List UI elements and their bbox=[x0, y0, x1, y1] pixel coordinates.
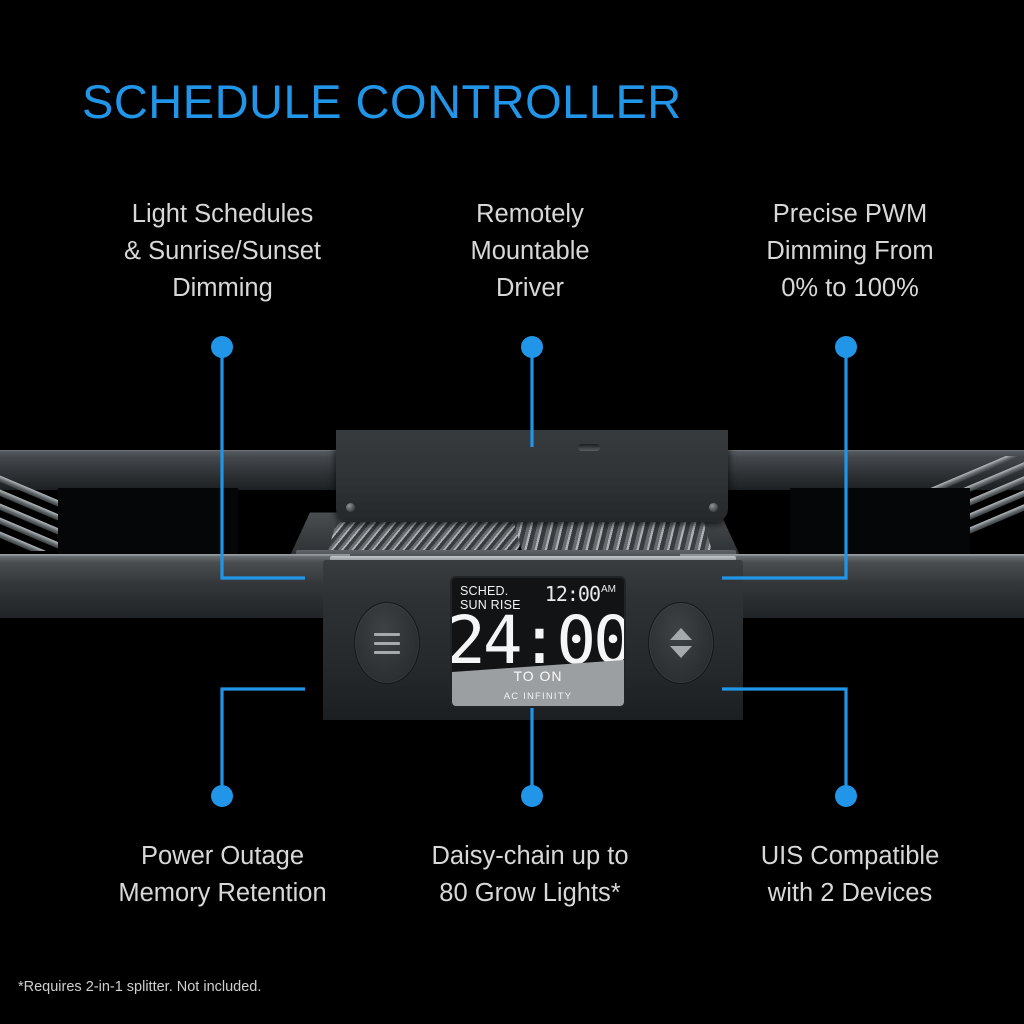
page-title: SCHEDULE CONTROLLER bbox=[82, 74, 682, 129]
menu-icon-line bbox=[374, 642, 400, 645]
up-down-button[interactable] bbox=[648, 602, 714, 684]
menu-button[interactable] bbox=[354, 602, 420, 684]
callout-label-remote-driver: Remotely Mountable Driver bbox=[385, 196, 675, 307]
grow-light-bar-front-left bbox=[0, 556, 350, 618]
lcd-display: SCHED. SUN RISE 12:00 AM 24:00 TO ON AC … bbox=[452, 578, 624, 706]
lcd-brand-label: AC INFINITY bbox=[452, 691, 624, 702]
lcd-clock-time: 12:00 bbox=[545, 584, 600, 604]
callout-dot-memory-retention bbox=[211, 785, 233, 807]
callout-label-memory-retention: Power Outage Memory Retention bbox=[60, 838, 385, 912]
callout-label-uis-compatible: UIS Compatible with 2 Devices bbox=[690, 838, 1010, 912]
callout-dot-uis-compatible bbox=[835, 785, 857, 807]
callout-dot-daisy-chain bbox=[521, 785, 543, 807]
callout-label-daisy-chain: Daisy-chain up to 80 Grow Lights* bbox=[385, 838, 675, 912]
product-infographic: SCHEDULE CONTROLLER bbox=[0, 0, 1024, 1024]
footnote: *Requires 2-in-1 splitter. Not included. bbox=[18, 979, 261, 995]
lcd-mode-line1: SCHED. bbox=[460, 584, 508, 598]
menu-icon-line bbox=[374, 633, 400, 636]
arrow-up-icon[interactable] bbox=[670, 628, 692, 640]
callout-label-light-schedules: Light Schedules & Sunrise/Sunset Dimming bbox=[60, 196, 385, 307]
lcd-clock-meridiem: AM bbox=[601, 584, 616, 595]
callout-dot-remote-driver bbox=[521, 336, 543, 358]
menu-icon-line bbox=[374, 651, 400, 654]
callout-dot-pwm-dimming bbox=[835, 336, 857, 358]
arrow-down-icon[interactable] bbox=[670, 646, 692, 658]
bar-recess-left bbox=[58, 488, 238, 556]
bar-recess-right bbox=[790, 488, 970, 556]
remote-driver-box bbox=[336, 430, 728, 522]
callout-dot-light-schedules bbox=[211, 336, 233, 358]
lcd-status-text: TO ON bbox=[452, 668, 624, 684]
lcd-clock: 12:00 AM bbox=[545, 584, 616, 604]
product-photo: SCHED. SUN RISE 12:00 AM 24:00 TO ON AC … bbox=[0, 430, 1024, 720]
callout-label-pwm-dimming: Precise PWM Dimming From 0% to 100% bbox=[690, 196, 1010, 307]
